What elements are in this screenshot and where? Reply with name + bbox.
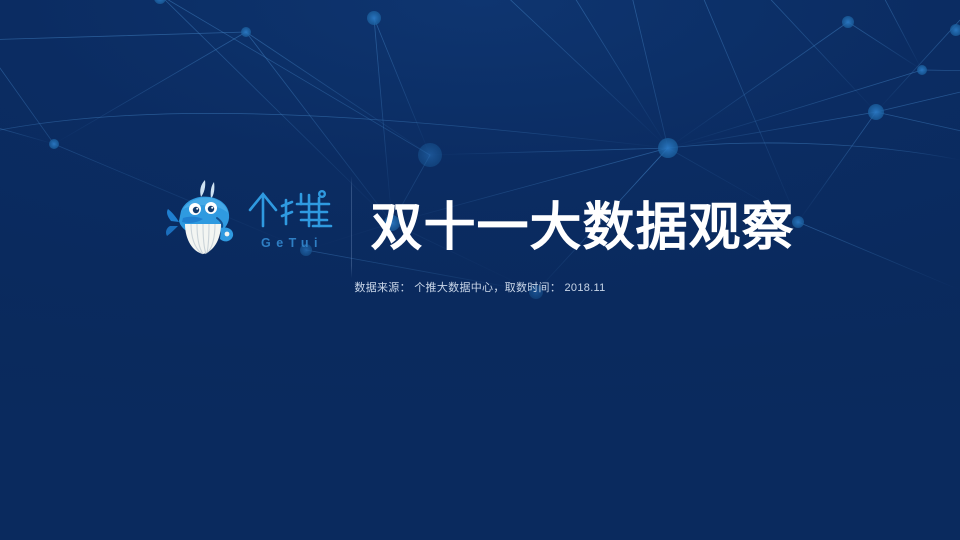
page-title: 双十一大数据观察 <box>370 202 794 254</box>
title-block: 双十一大数据观察 <box>370 172 794 289</box>
getui-whale-logo <box>165 178 237 258</box>
getui-wordmark-cn-icon <box>243 188 335 232</box>
lockup-divider <box>351 176 352 278</box>
data-source-note: 数据来源： 个推大数据中心，取数时间： 2018.11 <box>0 281 960 296</box>
getui-wordmark: GeTui <box>243 186 335 250</box>
getui-brand-logo: GeTui <box>165 172 335 264</box>
slide-root: GeTui 双十一大数据观察 数据来源： 个推大数据中心，取数时间： 2018.… <box>0 0 960 540</box>
getui-wordmark-latin: GeTui <box>256 237 323 250</box>
